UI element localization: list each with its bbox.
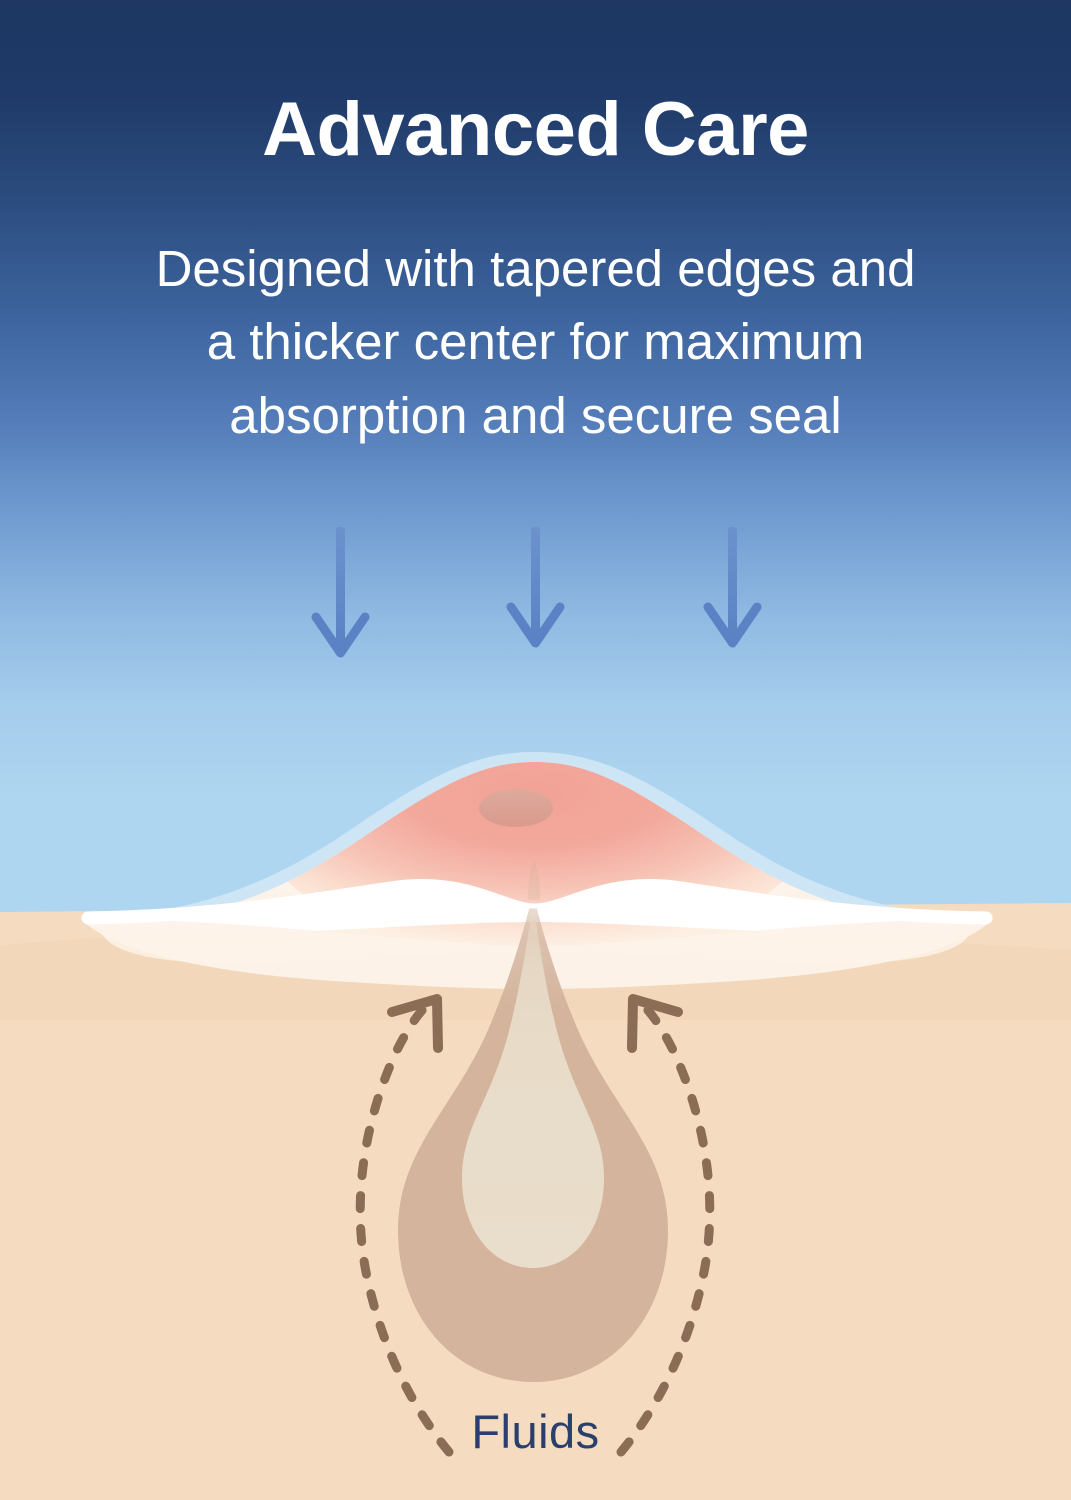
infographic-poster: Advanced Care Designed with tapered edge…	[0, 0, 1071, 1500]
illustration-canvas	[0, 0, 1071, 1500]
wound-spot	[479, 789, 553, 827]
